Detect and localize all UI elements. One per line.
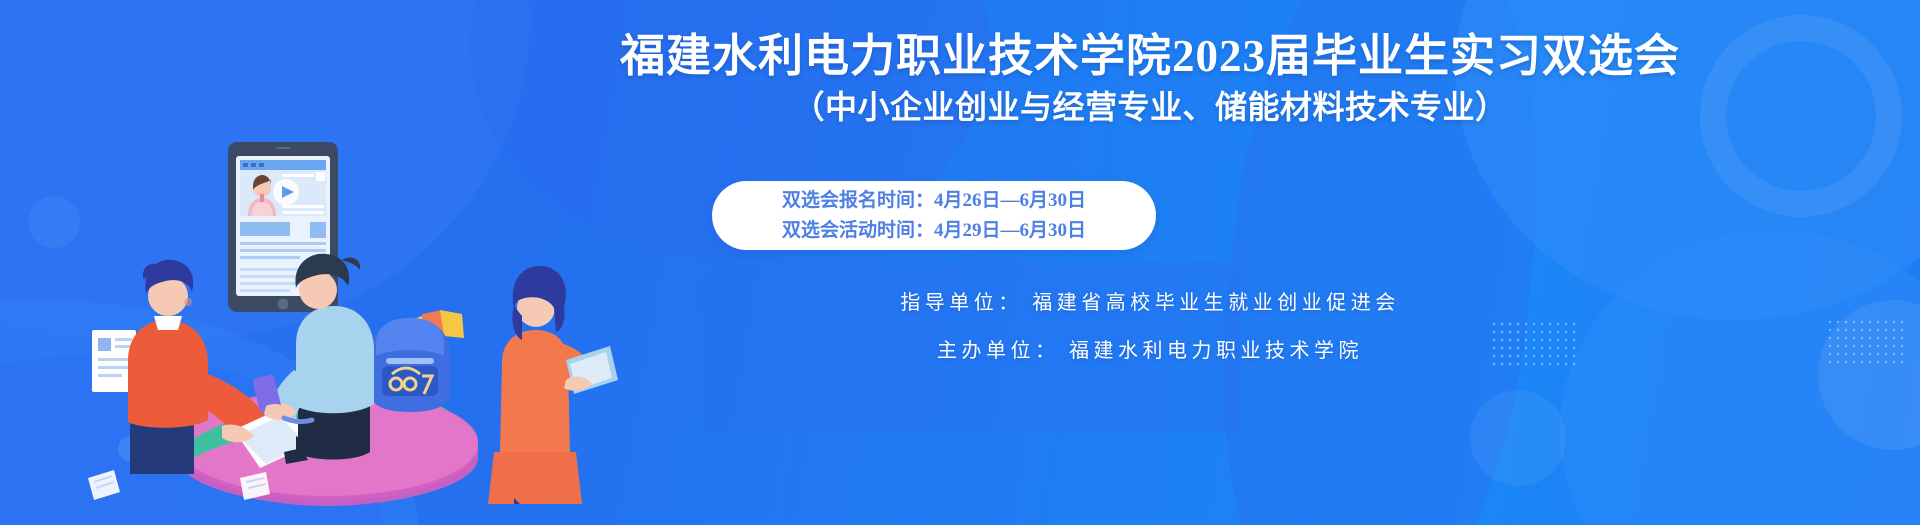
decorative-dot-grid-right: [1826, 318, 1904, 364]
page-title: 福建水利电力职业技术学院2023届毕业生实习双选会: [560, 30, 1740, 82]
schedule-pill: 双选会报名时间：4月26日—6月30日 双选会活动时间：4月29日—6月30日: [712, 181, 1156, 250]
recruitment-banner: 福建水利电力职业技术学院2023届毕业生实习双选会 （中小企业创业与经营专业、储…: [0, 0, 1920, 525]
backpack-icon: [370, 310, 464, 412]
registration-time-text: 双选会报名时间：4月26日—6月30日: [782, 186, 1086, 215]
page-subtitle: （中小企业创业与经营专业、储能材料技术专业）: [560, 88, 1740, 126]
banner-heading-block: 福建水利电力职业技术学院2023届毕业生实习双选会 （中小企业创业与经营专业、储…: [560, 30, 1740, 127]
host-unit-text: 主办单位： 福建水利电力职业技术学院: [560, 340, 1740, 362]
organizations-block: 指导单位： 福建省高校毕业生就业创业促进会 主办单位： 福建水利电力职业技术学院: [560, 292, 1740, 362]
decorative-circle-mid-right: [1470, 390, 1566, 486]
guidance-unit-text: 指导单位： 福建省高校毕业生就业创业促进会: [560, 292, 1740, 314]
activity-time-text: 双选会活动时间：4月29日—6月30日: [782, 216, 1086, 245]
